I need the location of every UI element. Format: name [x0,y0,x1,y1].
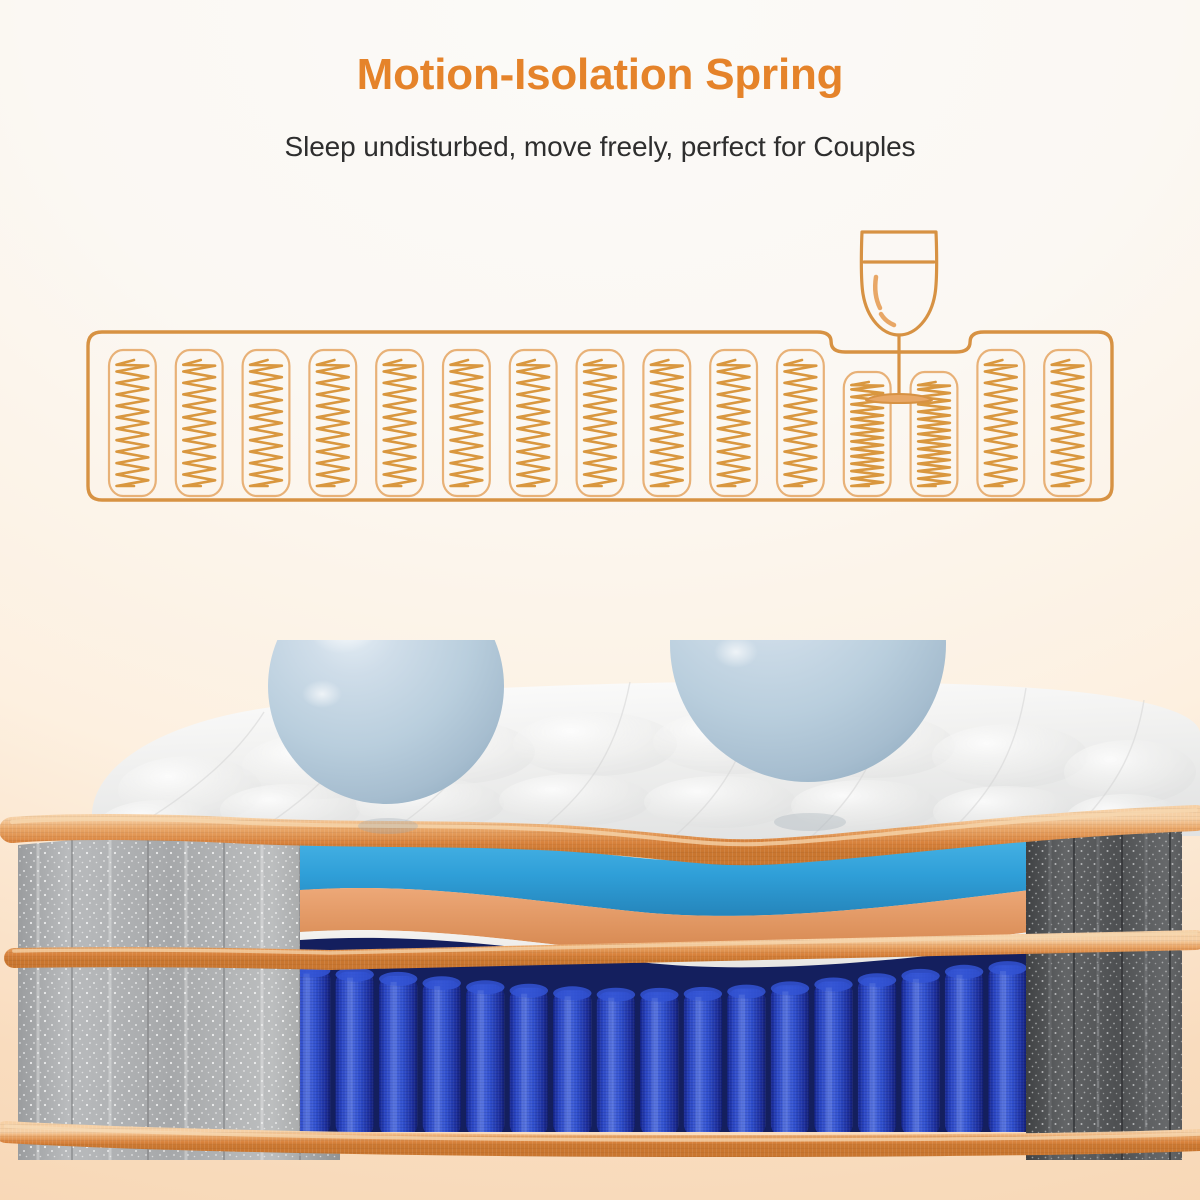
mattress-body [0,810,1200,1170]
pocket-spring-isolation-diagram [0,0,1200,640]
side-panel-right [1026,810,1200,1170]
wine-glass-icon [861,232,936,403]
mattress-cutaway [0,640,1200,1200]
product-feature-image: Motion-Isolation Spring Sleep undisturbe… [0,0,1200,1200]
side-panel-left [0,810,340,1170]
